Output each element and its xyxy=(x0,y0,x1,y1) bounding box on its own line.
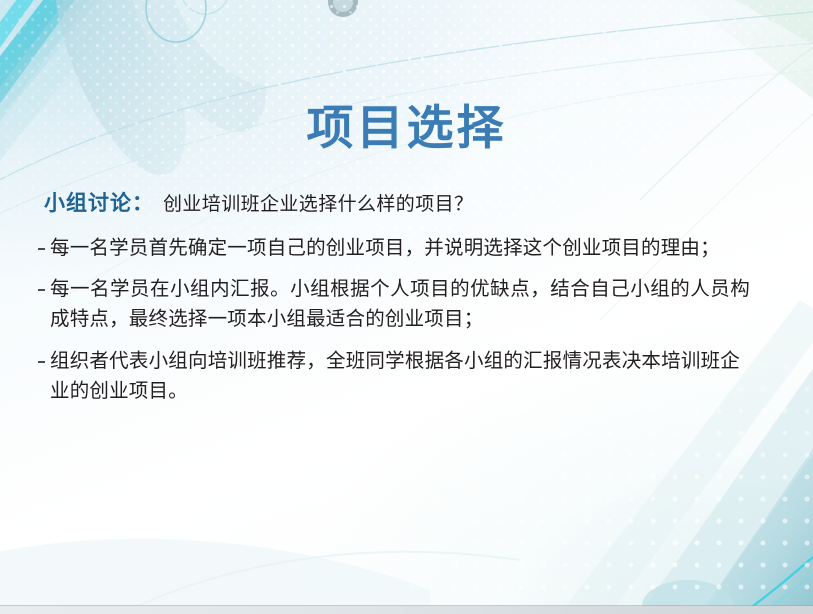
discussion-heading: 小组讨论：创业培训班企业选择什么样的项目？ xyxy=(44,190,777,218)
discussion-label: 小组讨论： xyxy=(44,192,154,215)
bullet-paragraph-3: 组织者代表小组向培训班推荐，全班同学根据各小组的汇报情况表决本培训班企业的创业项… xyxy=(44,347,740,406)
discussion-question: 创业培训班企业选择什么样的项目？ xyxy=(163,194,473,215)
presentation-slide: 项目选择 小组讨论：创业培训班企业选择什么样的项目？ 每一名学员首先确定一项自己… xyxy=(0,0,813,614)
dash-bullet-icon xyxy=(38,248,45,250)
bullet-paragraph-1: 每一名学员首先确定一项自己的创业项目，并说明选择这个创业项目的理由； xyxy=(44,234,760,264)
bullet-paragraph-3-text: 组织者代表小组向培训班推荐，全班同学根据各小组的汇报情况表决本培训班企业的创业项… xyxy=(50,351,740,402)
slide-content: 项目选择 小组讨论：创业培训班企业选择什么样的项目？ 每一名学员首先确定一项自己… xyxy=(0,0,813,614)
dash-bullet-icon xyxy=(38,361,45,363)
bullet-paragraph-1-text: 每一名学员首先确定一项自己的创业项目，并说明选择这个创业项目的理由； xyxy=(50,238,720,259)
slide-body: 小组讨论：创业培训班企业选择什么样的项目？ 每一名学员首先确定一项自己的创业项目… xyxy=(44,190,777,417)
bullet-paragraph-2: 每一名学员在小组内汇报。小组根据个人项目的优缺点，结合自己小组的人员构成特点，最… xyxy=(44,275,750,334)
slide-title: 项目选择 xyxy=(0,105,813,154)
dash-bullet-icon xyxy=(38,289,45,291)
bullet-paragraph-2-text: 每一名学员在小组内汇报。小组根据个人项目的优缺点，结合自己小组的人员构成特点，最… xyxy=(50,279,750,330)
